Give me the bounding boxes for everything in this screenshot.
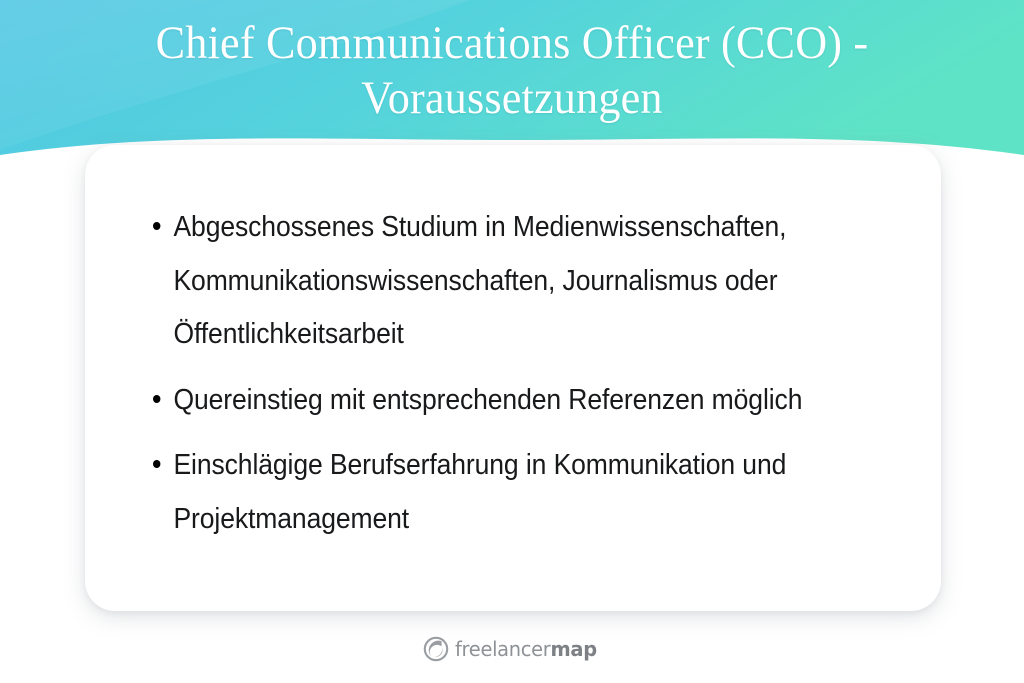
brand-name-light: freelancer — [455, 637, 550, 661]
brand-name-bold: map — [550, 637, 596, 661]
requirements-list: Abgeschossenes Studium in Medienwissensc… — [115, 201, 913, 546]
freelancermap-circle-swirl-icon — [423, 636, 449, 662]
list-item: Abgeschossenes Studium in Medienwissensc… — [153, 201, 860, 362]
list-item: Einschlägige Berufserfahrung in Kommunik… — [153, 439, 860, 546]
page-title: Chief Communications Officer (CCO) - Vor… — [31, 16, 994, 127]
content-card: Abgeschossenes Studium in Medienwissensc… — [85, 145, 941, 611]
footer-logo: freelancermap — [0, 636, 1024, 662]
list-item: Quereinstieg mit entsprechenden Referenz… — [153, 374, 860, 428]
infographic-slide: Chief Communications Officer (CCO) - Vor… — [0, 0, 1024, 683]
brand-wordmark: freelancermap — [455, 639, 597, 659]
